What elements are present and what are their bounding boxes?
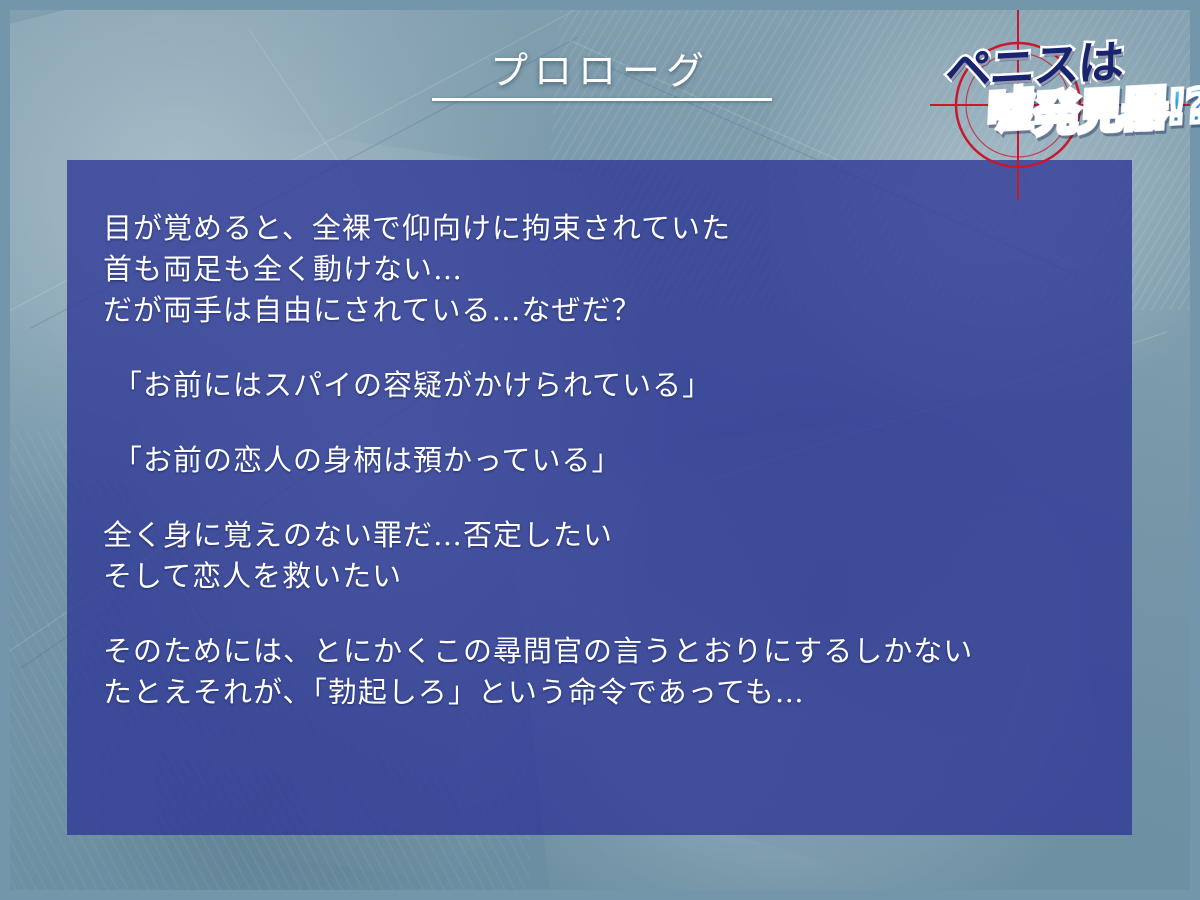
paragraph-quote: 「お前の恋人の身柄は預かっている」 <box>103 440 1114 481</box>
text-line: たとえそれが、「勃起しろ」という命令であっても… <box>103 672 1114 713</box>
paragraph-narration: 全く身に覚えのない罪だ…否定したいそして恋人を救いたい <box>103 515 1114 597</box>
logo-uso-kanji: 嘘 <box>986 73 1034 141</box>
text-line: そして恋人を救いたい <box>103 556 1114 597</box>
logo-line-2: 発見器!? <box>1032 69 1200 144</box>
title-underline <box>432 98 772 101</box>
paragraph-narration: 目が覚めると、全裸で仰向けに拘束されていた首も両足も全く動けない…だが両手は自由… <box>103 208 1114 331</box>
paragraph-narration: そのためには、とにかくこの尋問官の言うとおりにするしかないたとえそれが、「勃起し… <box>103 631 1114 713</box>
game-logo: ペニスは 嘘 発見器!? <box>930 10 1190 200</box>
text-line: そのためには、とにかくこの尋問官の言うとおりにするしかない <box>103 631 1114 672</box>
logo-wordmark: ペニスは 嘘 発見器!? <box>930 10 1190 200</box>
text-line: 「お前にはスパイの容疑がかけられている」 <box>103 365 1114 406</box>
text-line: 全く身に覚えのない罪だ…否定したい <box>103 515 1114 556</box>
prologue-paragraphs: 目が覚めると、全裸で仰向けに拘束されていた首も両足も全く動けない…だが両手は自由… <box>103 208 1114 713</box>
text-line: だが両手は自由にされている…なぜだ？ <box>103 290 1114 331</box>
text-line: 「お前の恋人の身柄は預かっている」 <box>103 440 1114 481</box>
screenshot-root: プロローグ ペニスは 嘘 発見器!? 目が覚めると、全裸で仰向けに拘束されていた… <box>0 0 1200 900</box>
text-line: 首も両足も全く動けない… <box>103 249 1114 290</box>
paragraph-quote: 「お前にはスパイの容疑がかけられている」 <box>103 365 1114 406</box>
text-line: 目が覚めると、全裸で仰向けに拘束されていた <box>103 208 1114 249</box>
prologue-text-panel: 目が覚めると、全裸で仰向けに拘束されていた首も両足も全く動けない…だが両手は自由… <box>67 160 1132 835</box>
